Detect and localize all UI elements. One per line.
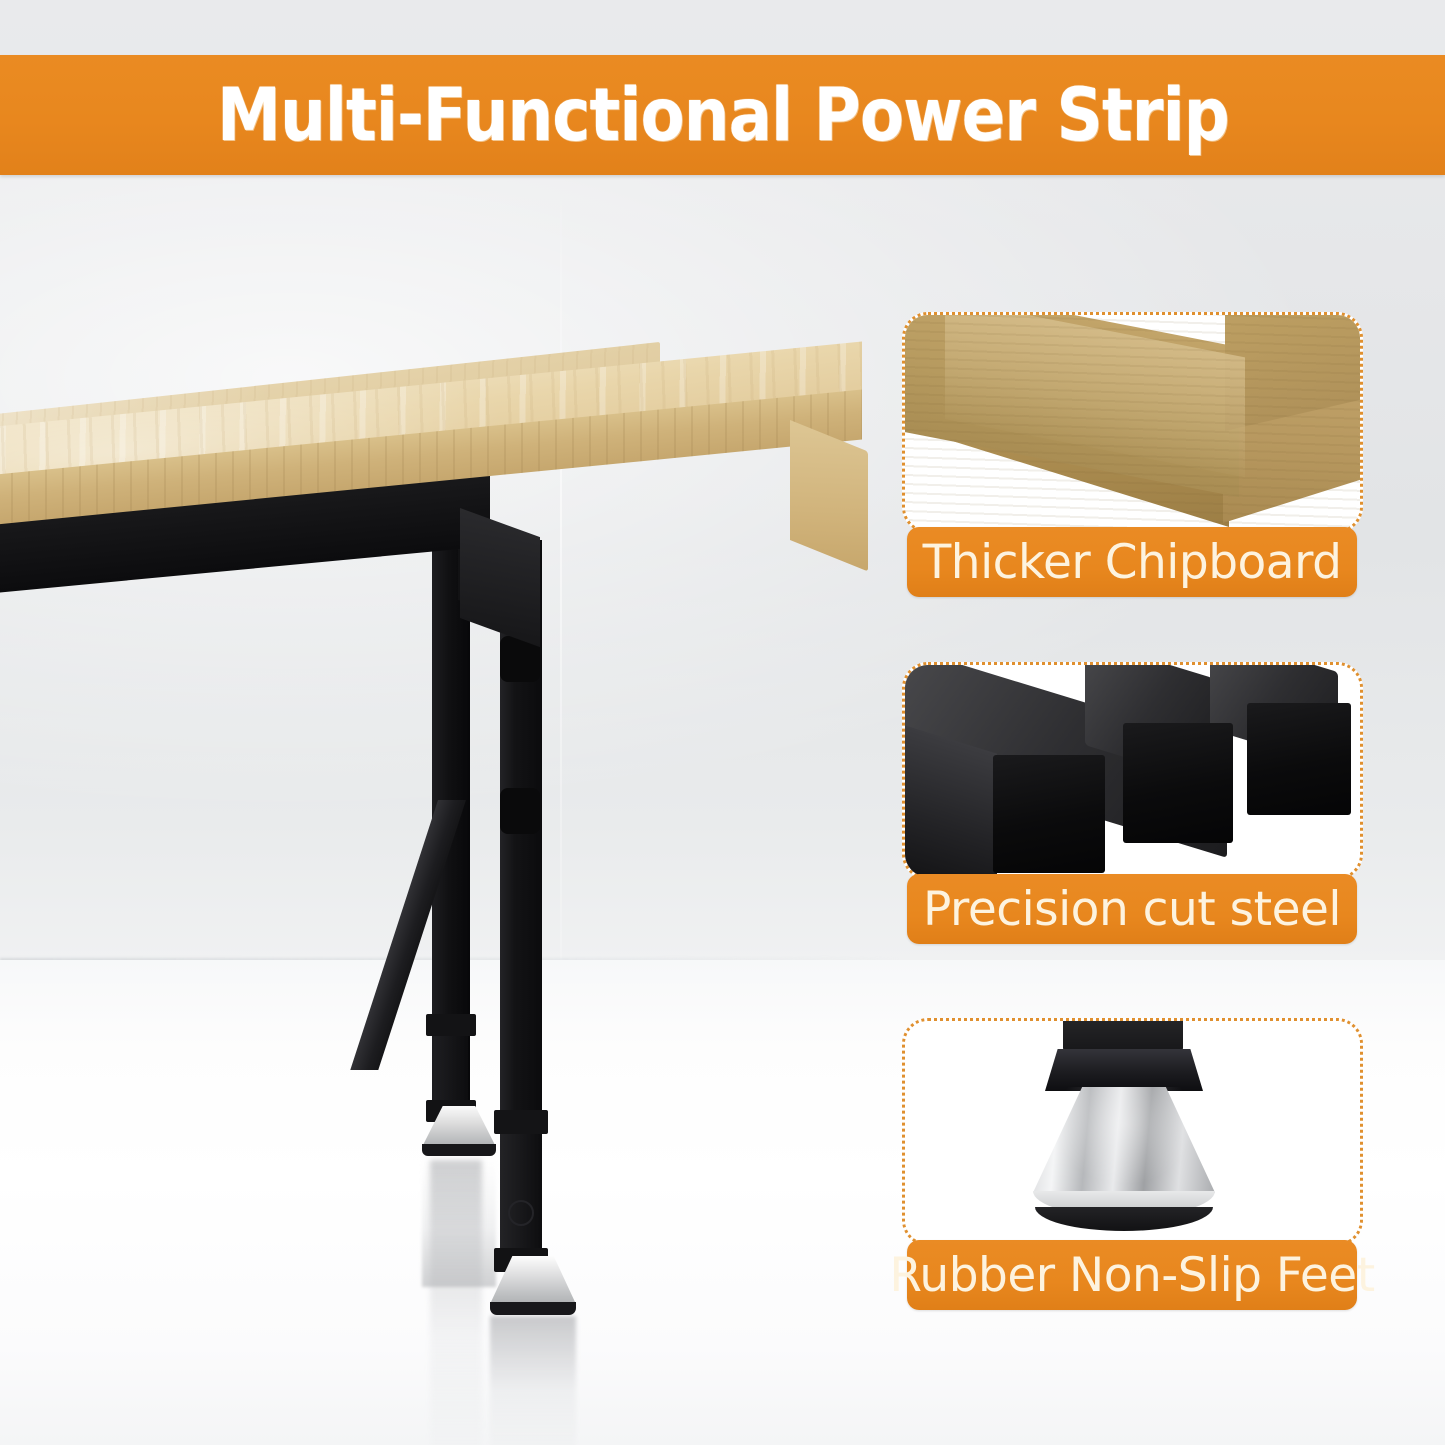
wood-corner-icon: [905, 315, 1360, 530]
steel-tubes-icon: [905, 665, 1360, 877]
feature-card-precision-cut-steel[interactable]: Precision cut steel: [902, 662, 1357, 944]
tabletop-end-cap: [790, 420, 868, 572]
rubber-pad-back: [422, 1144, 496, 1156]
steel-photo-frame: [902, 662, 1363, 880]
foot-reflection-back: [422, 1157, 496, 1287]
frame-apron-side: [460, 508, 540, 647]
leg-front-lower: [500, 1134, 542, 1256]
feature-card-thicker-chipboard[interactable]: Thicker Chipboard: [902, 312, 1357, 597]
leg-back-lower: [434, 1036, 468, 1108]
page-title: Multi-Functional Power Strip: [217, 73, 1229, 158]
chipboard-photo-frame: [902, 312, 1363, 533]
product-infographic: Multi-Functional Power Strip Thicker Chi…: [0, 0, 1445, 1445]
leveling-foot-icon: [905, 1021, 1360, 1243]
leg-bolt-hole: [508, 1200, 534, 1226]
feature-label-2-text: Precision cut steel: [923, 882, 1341, 937]
feature-label-2: Precision cut steel: [907, 874, 1357, 944]
rubber-pad-front: [490, 1302, 576, 1315]
foot-reflection-front: [490, 1316, 576, 1445]
leg-front-adjuster-upper: [494, 1110, 548, 1134]
foot-photo-frame: [902, 1018, 1363, 1246]
feature-label-3: Rubber Non-Slip Feet: [907, 1240, 1357, 1310]
leg-hole-lower: [500, 788, 540, 834]
feature-label-1-text: Thicker Chipboard: [923, 535, 1342, 590]
feature-card-rubber-non-slip-feet[interactable]: Rubber Non-Slip Feet: [902, 1018, 1357, 1310]
header-banner: Multi-Functional Power Strip: [0, 55, 1445, 175]
leg-back-adjuster-upper: [426, 1014, 476, 1036]
workbench-photo: [0, 400, 880, 1360]
feature-label-3-text: Rubber Non-Slip Feet: [889, 1248, 1374, 1303]
feature-label-1: Thicker Chipboard: [907, 527, 1357, 597]
